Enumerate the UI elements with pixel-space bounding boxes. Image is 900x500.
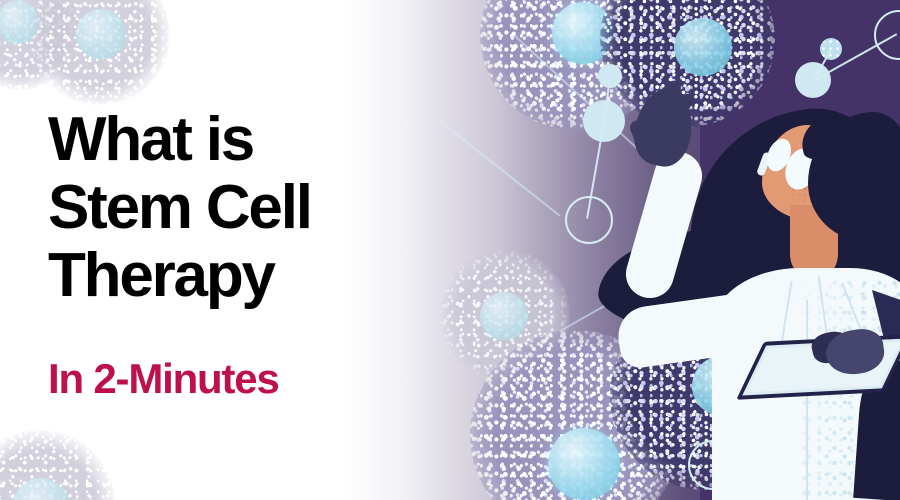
- page-title: What is Stem Cell Therapy: [48, 106, 311, 310]
- headline-line-2: Stem Cell: [48, 174, 311, 242]
- cell-nucleus: [76, 9, 126, 59]
- cell-nucleus: [480, 292, 528, 340]
- cell-nucleus: [548, 428, 620, 500]
- stem-cell-therapy-banner: What is Stem Cell Therapy In 2-Minutes: [0, 0, 900, 500]
- molecule-node-top-right-small: [820, 38, 842, 60]
- cell-nucleus: [674, 18, 732, 76]
- headline-line-3: Therapy: [48, 242, 311, 310]
- subtitle: In 2-Minutes: [48, 355, 279, 403]
- headline-line-1: What is: [48, 106, 311, 174]
- lab-coat-seam: [806, 300, 808, 500]
